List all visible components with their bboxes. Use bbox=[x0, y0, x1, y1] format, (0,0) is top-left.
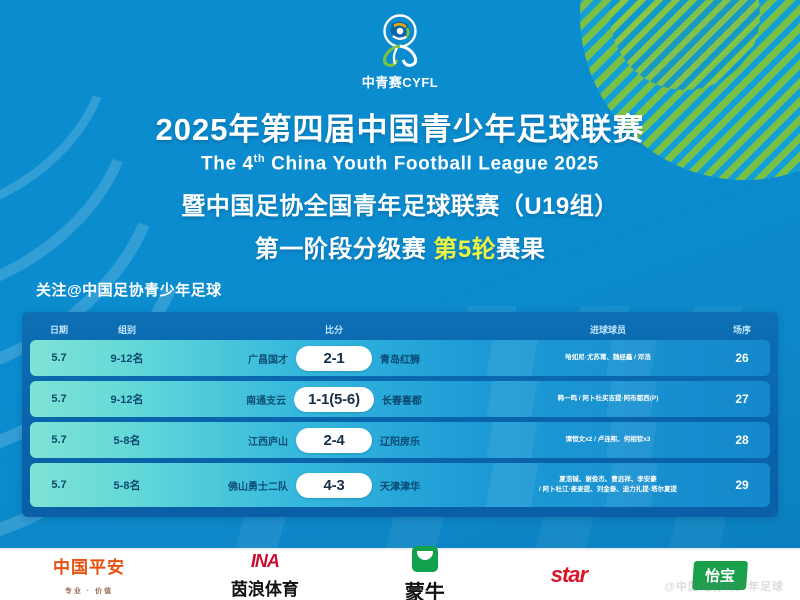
cell-score: 南通支云1-1(5-6)长春喜都 bbox=[166, 387, 502, 412]
title-en-prefix: The 4 bbox=[201, 153, 254, 174]
cell-group: 5-8名 bbox=[88, 432, 166, 448]
cell-match-no: 29 bbox=[714, 478, 770, 492]
cell-score: 佛山勇士二队4-3天津津华 bbox=[166, 473, 502, 498]
table-row: 5.75-8名佛山勇士二队4-3天津津华夏浩铖、谢俊杰、曹远祥、李安豪/ 阿卜杜… bbox=[30, 463, 770, 507]
team-home: 南通支云 bbox=[200, 392, 286, 407]
score-pill: 1-1(5-6) bbox=[294, 387, 374, 412]
score-pill: 4-3 bbox=[296, 473, 372, 498]
league-logo: 中青赛CYFL bbox=[0, 12, 800, 91]
column-header-score: 比分 bbox=[166, 323, 502, 336]
cell-group: 5-8名 bbox=[88, 477, 166, 493]
cell-date: 5.7 bbox=[30, 479, 88, 491]
cell-date: 5.7 bbox=[30, 434, 88, 446]
score-pill: 2-4 bbox=[296, 428, 372, 453]
sponsor-star-name: star bbox=[551, 562, 587, 588]
column-header-group: 组别 bbox=[88, 323, 166, 336]
sponsor-ina-name: 茵浪体育 bbox=[231, 575, 299, 600]
cell-scorers: 夏浩铖、谢俊杰、曹远祥、李安豪/ 阿卜杜江·麦麦提、刘金泰、迪力扎提·塔尔夏提 bbox=[502, 475, 714, 495]
cell-date: 5.7 bbox=[30, 393, 88, 405]
title-block: 2025年第四届中国青少年足球联赛 The 4th China Youth Fo… bbox=[0, 112, 800, 264]
main-title-en: The 4th China Youth Football League 2025 bbox=[0, 153, 800, 175]
mengniu-logo-icon bbox=[412, 546, 438, 572]
cell-scorers: 韩一鸣 / 阿卜杜买吉提·阿布都西(P) bbox=[502, 394, 714, 404]
cell-group: 9-12名 bbox=[88, 350, 166, 366]
team-away: 青岛红狮 bbox=[380, 351, 466, 366]
table-header-row: 日期 组别 比分 进球球员 场序 bbox=[30, 318, 770, 340]
column-header-date: 日期 bbox=[30, 323, 88, 336]
sponsor-star: star bbox=[551, 562, 587, 588]
table-row: 5.75-8名江西庐山2-4辽阳房乐谭恒文x2 / 卢连熙、何相钦x328 bbox=[30, 422, 770, 458]
sponsor-ina-mark: INA bbox=[251, 551, 279, 572]
cell-group: 9-12名 bbox=[88, 391, 166, 407]
cell-score: 广昌国才2-1青岛红狮 bbox=[166, 346, 502, 371]
team-home: 江西庐山 bbox=[202, 433, 288, 448]
team-away: 天津津华 bbox=[380, 478, 466, 493]
cell-match-no: 27 bbox=[714, 392, 770, 406]
cell-date: 5.7 bbox=[30, 352, 88, 364]
subtitle-cn: 暨中国足协全国青年足球联赛（U19组） bbox=[0, 186, 800, 221]
results-table: 日期 组别 比分 进球球员 场序 5.79-12名广昌国才2-1青岛红狮哈如尼·… bbox=[22, 312, 778, 517]
round-highlight: 第5轮 bbox=[433, 236, 496, 263]
column-header-scorers: 进球球员 bbox=[502, 323, 714, 336]
sponsor-pingan-tagline: 专业 · 价值 bbox=[65, 588, 113, 595]
logo-wordmark: 中青赛CYFL bbox=[362, 72, 438, 91]
title-en-rest: China Youth Football League 2025 bbox=[265, 153, 599, 174]
sponsor-mengniu: 蒙牛 bbox=[405, 546, 445, 600]
sponsor-ina: INA 茵浪体育 bbox=[231, 551, 299, 600]
cell-match-no: 26 bbox=[714, 351, 770, 365]
cyfl-football-figure-logo-icon bbox=[369, 12, 431, 70]
team-away: 长春喜都 bbox=[382, 392, 468, 407]
cell-scorers: 哈如尼·尤苏莆、魏经鑫 / 邓浩 bbox=[502, 353, 714, 363]
round-suffix: 赛果 bbox=[496, 236, 545, 263]
cell-match-no: 28 bbox=[714, 433, 770, 447]
watermark-text: @中国足协青少年足球 bbox=[664, 578, 784, 594]
sponsor-pingan-name: 中国平安 bbox=[53, 553, 125, 578]
cell-scorers: 谭恒文x2 / 卢连熙、何相钦x3 bbox=[502, 435, 714, 445]
team-home: 佛山勇士二队 bbox=[202, 478, 288, 493]
table-row: 5.79-12名广昌国才2-1青岛红狮哈如尼·尤苏莆、魏经鑫 / 邓浩26 bbox=[30, 340, 770, 376]
poster-root: 中青赛CYFL 2025年第四届中国青少年足球联赛 The 4th China … bbox=[0, 0, 800, 600]
cell-score: 江西庐山2-4辽阳房乐 bbox=[166, 428, 502, 453]
team-home: 广昌国才 bbox=[202, 351, 288, 366]
table-row: 5.79-12名南通支云1-1(5-6)长春喜都韩一鸣 / 阿卜杜买吉提·阿布都… bbox=[30, 381, 770, 417]
round-line: 第一阶段分级赛 第5轮赛果 bbox=[0, 229, 800, 264]
follow-handle-text: 关注@中国足协青少年足球 bbox=[36, 279, 222, 300]
round-prefix: 第一阶段分级赛 bbox=[255, 236, 434, 263]
column-header-match-no: 场序 bbox=[714, 323, 770, 336]
team-away: 辽阳房乐 bbox=[380, 433, 466, 448]
score-pill: 2-1 bbox=[296, 346, 372, 371]
sponsor-pingan: 中国平安 专业 · 价值 bbox=[53, 553, 125, 598]
sponsor-mengniu-name: 蒙牛 bbox=[405, 576, 445, 600]
table-body: 5.79-12名广昌国才2-1青岛红狮哈如尼·尤苏莆、魏经鑫 / 邓浩265.7… bbox=[30, 340, 770, 507]
main-title-cn: 2025年第四届中国青少年足球联赛 bbox=[0, 112, 800, 148]
title-en-ordinal: th bbox=[254, 153, 266, 165]
